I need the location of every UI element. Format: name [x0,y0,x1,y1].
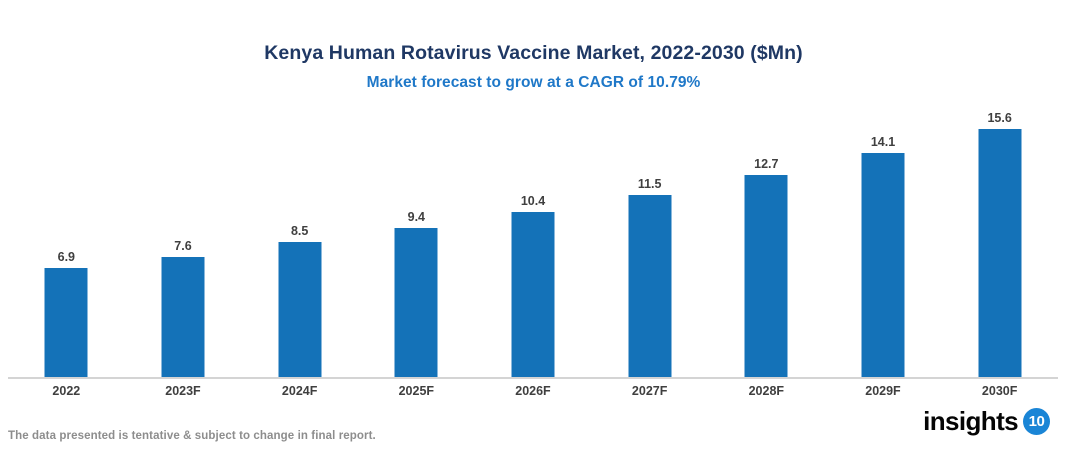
footer-disclaimer: The data presented is tentative & subjec… [8,428,376,444]
bar-value-label: 6.9 [58,250,75,264]
chart-title: Kenya Human Rotavirus Vaccine Market, 20… [0,40,1067,66]
bar-column[interactable]: 12.7 [745,110,788,378]
chart-card: Kenya Human Rotavirus Vaccine Market, 20… [0,0,1067,454]
bar-column[interactable]: 6.9 [45,110,88,378]
chart-subtitle: Market forecast to grow at a CAGR of 10.… [0,72,1067,93]
bar-group: 8.5 [241,110,358,378]
x-axis-tick-label: 2027F [591,380,708,402]
category-axis: 20222023F2024F2025F2026F2027F2028F2029F2… [8,380,1058,402]
bar-rect[interactable] [978,129,1021,378]
x-axis-tick-label: 2029F [825,380,942,402]
bar-group: 12.7 [708,110,825,378]
bar-group: 7.6 [125,110,242,378]
x-axis-tick-label: 2023F [125,380,242,402]
bar-value-label: 15.6 [987,111,1011,125]
bar-value-label: 10.4 [521,194,545,208]
bar-rect[interactable] [628,195,671,378]
bar-column[interactable]: 10.4 [511,110,554,378]
bar-column[interactable]: 11.5 [628,110,671,378]
bar-column[interactable]: 9.4 [395,110,438,378]
title-block: Kenya Human Rotavirus Vaccine Market, 20… [0,40,1067,93]
bar-rect[interactable] [45,268,88,378]
x-axis-tick-label: 2024F [241,380,358,402]
bar-column[interactable]: 7.6 [161,110,204,378]
bar-rect[interactable] [395,228,438,378]
bar-group: 14.1 [825,110,942,378]
logo-badge-icon: 10 [1023,408,1050,435]
bar-value-label: 11.5 [638,177,662,191]
bar-column[interactable]: 15.6 [978,110,1021,378]
x-axis-tick-label: 2025F [358,380,475,402]
bar-column[interactable]: 8.5 [278,110,321,378]
bar-rect[interactable] [278,242,321,378]
logo-wordmark: insights [923,406,1018,436]
bar-group: 11.5 [591,110,708,378]
insights10-logo: insights 10 [923,406,1050,436]
bar-value-label: 8.5 [291,224,308,238]
x-axis-tick-label: 2022 [8,380,125,402]
bar-rect[interactable] [745,175,788,378]
x-axis-line [8,377,1058,379]
bar-rect[interactable] [861,153,904,378]
bar-group: 15.6 [941,110,1058,378]
bar-group: 6.9 [8,110,125,378]
x-axis-tick-label: 2028F [708,380,825,402]
bar-value-label: 14.1 [871,135,895,149]
bar-column[interactable]: 14.1 [861,110,904,378]
bar-group: 10.4 [475,110,592,378]
bar-value-label: 9.4 [408,210,425,224]
bar-rect[interactable] [511,212,554,378]
bar-value-label: 7.6 [174,239,191,253]
plot-area: 6.97.68.59.410.411.512.714.115.6 [8,110,1058,378]
x-axis-tick-label: 2026F [475,380,592,402]
bar-value-label: 12.7 [754,157,778,171]
bar-rect[interactable] [161,257,204,378]
bar-group: 9.4 [358,110,475,378]
x-axis-tick-label: 2030F [941,380,1058,402]
